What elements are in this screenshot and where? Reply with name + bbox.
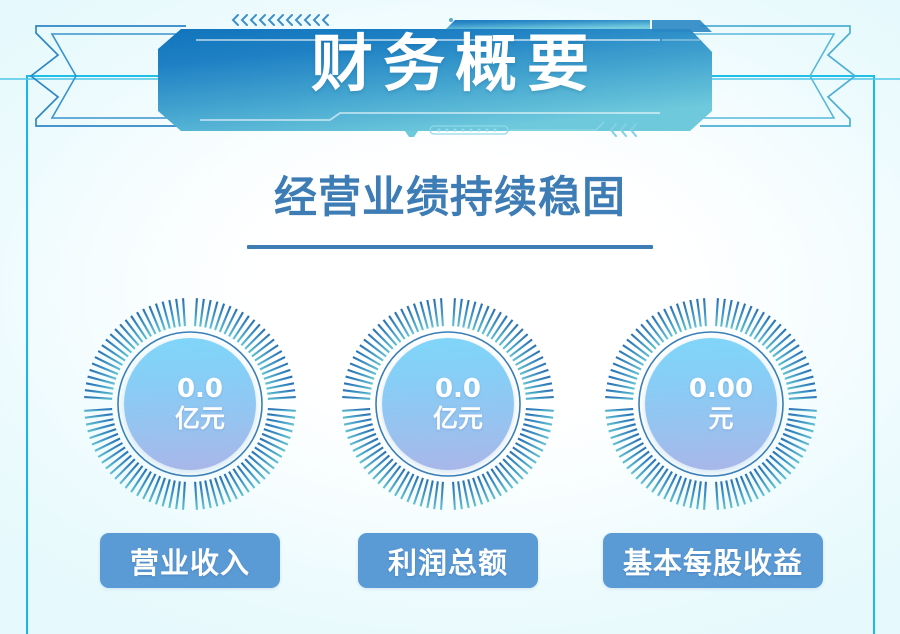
gauge-face: 0.0 亿元 — [124, 338, 256, 470]
gauge-face: 0.00 元 — [645, 338, 777, 470]
subtitle-underline — [247, 245, 653, 249]
gauge-unit: 元 — [708, 404, 733, 434]
kpi-label-row: 营业收入 利润总额 基本每股收益 — [0, 533, 900, 591]
gauge-unit: 亿元 — [175, 404, 225, 434]
kpi-label-basic-eps[interactable]: 基本每股收益 — [603, 533, 823, 588]
kpi-gauge-row: 0.0 亿元 0.0 亿元 — [0, 296, 900, 516]
banner-title: 财务概要 — [0, 24, 900, 104]
gauge-value: 0.00 — [689, 374, 753, 404]
gauge-readout: 0.0 亿元 — [382, 338, 514, 470]
gauge-value: 0.0 — [435, 374, 481, 404]
gauge-face: 0.0 亿元 — [382, 338, 514, 470]
kpi-label-total-profit[interactable]: 利润总额 — [358, 533, 538, 588]
kpi-gauge-basic-eps[interactable]: 0.00 元 — [603, 296, 819, 512]
kpi-gauge-total-profit[interactable]: 0.0 亿元 — [340, 296, 556, 512]
section-subtitle-block: 经营业绩持续稳固 — [0, 172, 900, 249]
banner-header: 财务概要 — [0, 0, 900, 150]
kpi-gauge-revenue[interactable]: 0.0 亿元 — [82, 296, 298, 512]
gauge-unit: 亿元 — [433, 404, 483, 434]
gauge-readout: 0.00 元 — [645, 338, 777, 470]
section-subtitle: 经营业绩持续稳固 — [274, 172, 626, 224]
infographic-page: 财务概要 经营业绩持续稳固 — [0, 0, 900, 634]
gauge-readout: 0.0 亿元 — [124, 338, 256, 470]
kpi-label-revenue[interactable]: 营业收入 — [100, 533, 280, 588]
gauge-value: 0.0 — [177, 374, 223, 404]
